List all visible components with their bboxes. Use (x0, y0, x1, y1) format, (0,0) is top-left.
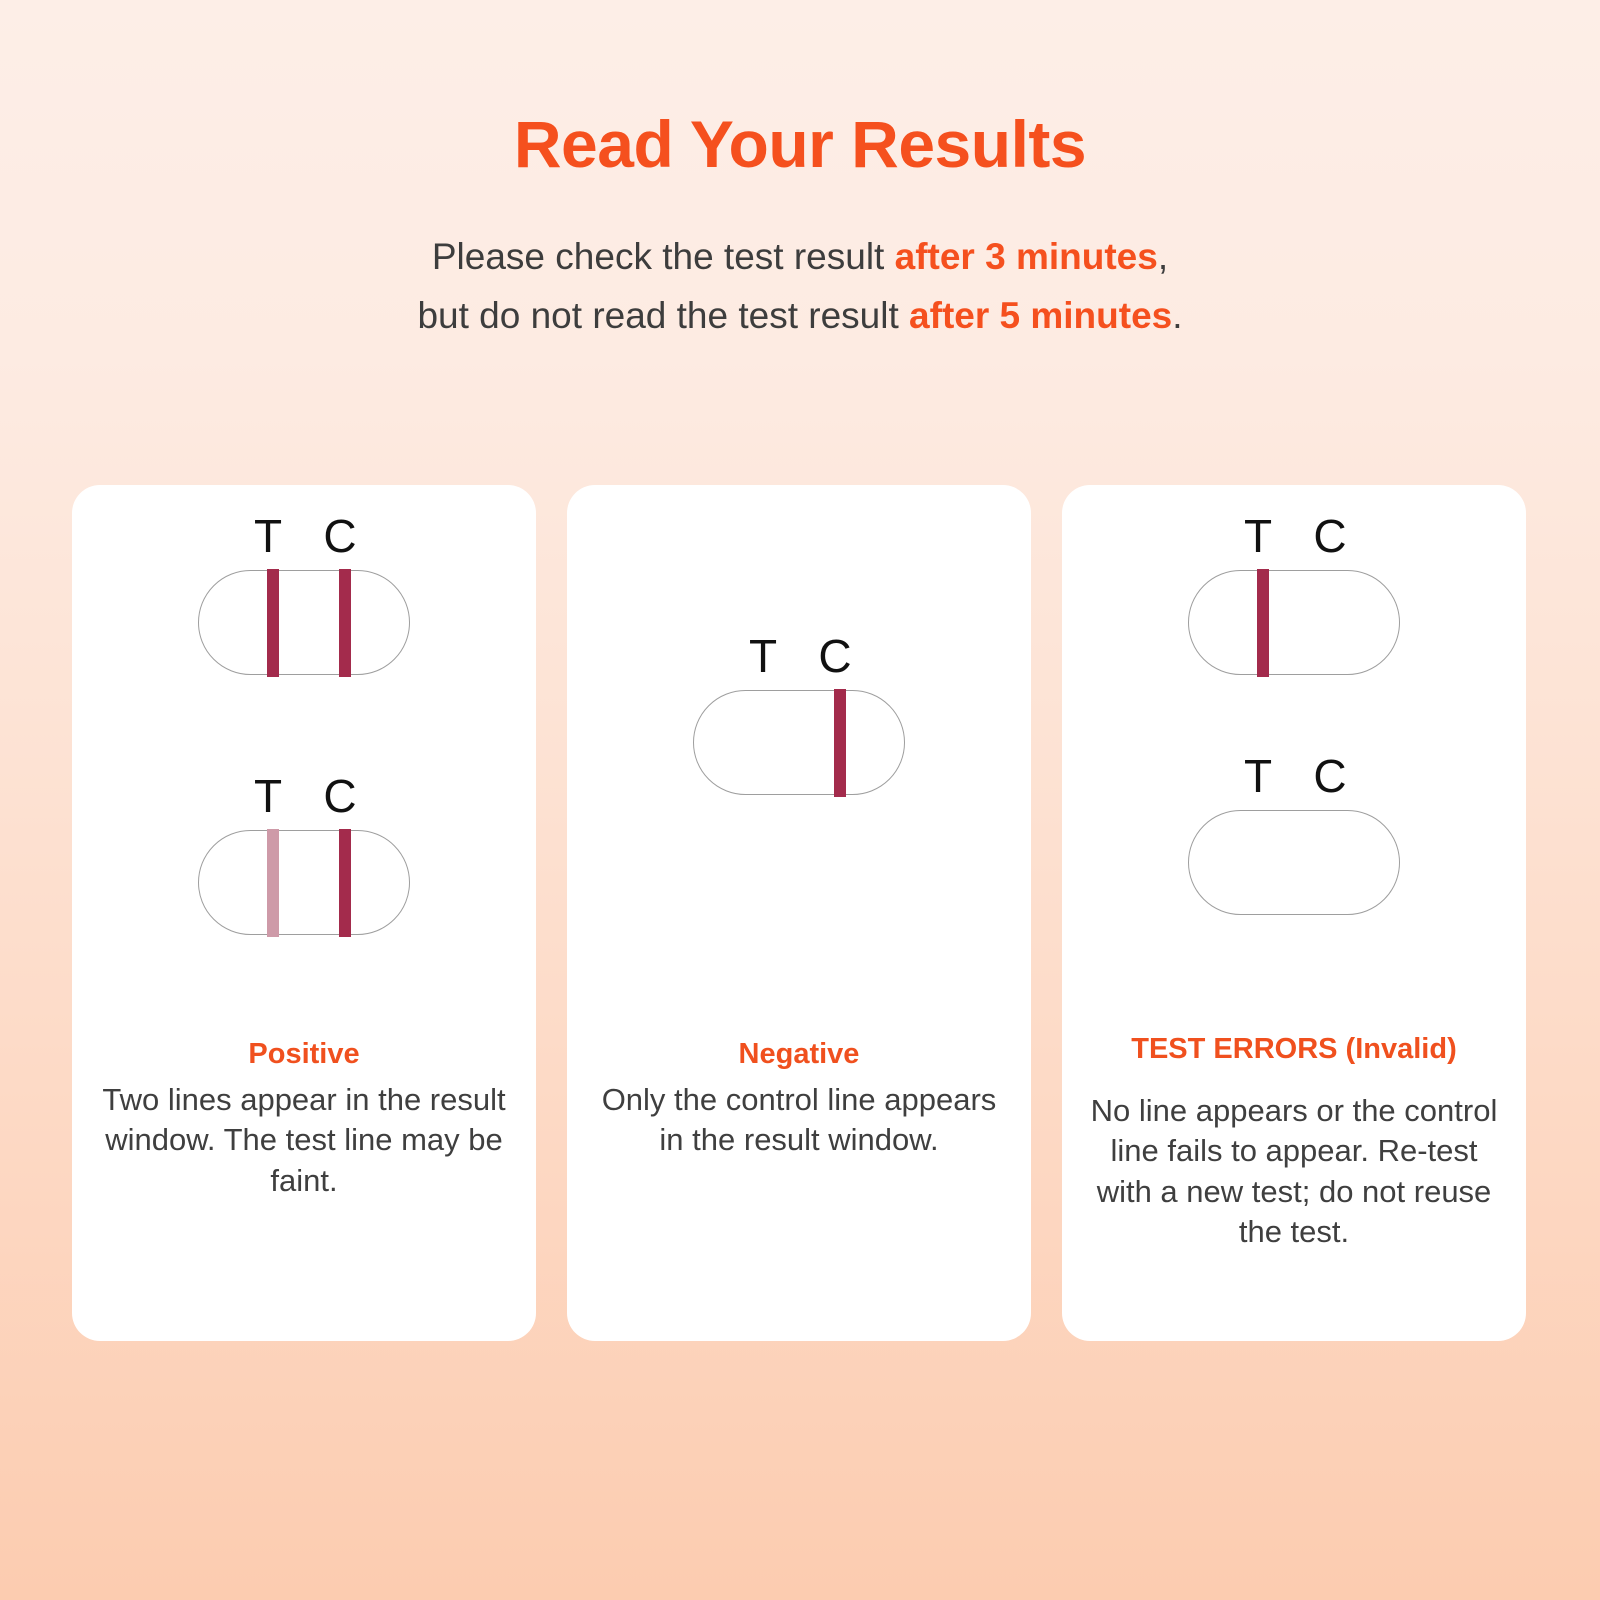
control-line-mark (834, 689, 846, 797)
result-description: No line appears or the control line fail… (1086, 1091, 1502, 1252)
result-status-label: Positive (96, 1035, 512, 1074)
subtitle-line2-suffix: . (1172, 295, 1182, 336)
page-header: Read Your Results Please check the test … (0, 0, 1600, 345)
control-line-mark (339, 829, 351, 937)
strip-labels: TC (198, 510, 410, 566)
subtitle-line1-suffix: , (1158, 236, 1168, 277)
test-strip: TC (198, 510, 410, 675)
test-strip: TC (1188, 510, 1400, 675)
result-status-label: TEST ERRORS (Invalid) (1086, 1030, 1502, 1069)
result-card: TCTCTEST ERRORS (Invalid)No line appears… (1062, 485, 1526, 1341)
test-line-mark (267, 829, 279, 937)
result-window (693, 690, 905, 795)
control-line-mark (339, 569, 351, 677)
control-line-label: C (320, 770, 360, 822)
test-strip: TC (198, 770, 410, 935)
test-line-label: T (248, 770, 288, 822)
card-text-block: PositiveTwo lines appear in the result w… (72, 1035, 536, 1201)
strip-labels: TC (198, 770, 410, 826)
subtitle-line1-prefix: Please check the test result (432, 236, 895, 277)
control-line-label: C (320, 510, 360, 562)
test-line-label: T (248, 510, 288, 562)
subtitle-line-1: Please check the test result after 3 min… (0, 227, 1600, 286)
test-strip: TC (1188, 750, 1400, 915)
page-title: Read Your Results (0, 108, 1600, 181)
card-text-block: TEST ERRORS (Invalid)No line appears or … (1062, 1030, 1526, 1252)
strip-labels: TC (1188, 510, 1400, 566)
card-text-block: NegativeOnly the control line appears in… (567, 1035, 1031, 1161)
result-description: Only the control line appears in the res… (591, 1080, 1007, 1161)
control-line-label: C (1310, 750, 1350, 802)
strip-labels: TC (693, 630, 905, 686)
result-card: TCTCPositiveTwo lines appear in the resu… (72, 485, 536, 1341)
test-line-mark (267, 569, 279, 677)
result-status-label: Negative (591, 1035, 1007, 1074)
subtitle-line-2: but do not read the test result after 5 … (0, 286, 1600, 345)
result-window (1188, 570, 1400, 675)
control-line-label: C (815, 630, 855, 682)
result-description: Two lines appear in the result window. T… (96, 1080, 512, 1201)
test-line-label: T (1238, 510, 1278, 562)
result-window (1188, 810, 1400, 915)
strip-labels: TC (1188, 750, 1400, 806)
result-window (198, 830, 410, 935)
page-subtitle: Please check the test result after 3 min… (0, 227, 1600, 345)
subtitle-line2-prefix: but do not read the test result (417, 295, 909, 336)
results-card-row: TCTCPositiveTwo lines appear in the resu… (72, 485, 1528, 1341)
subtitle-line1-accent: after 3 minutes (895, 236, 1158, 277)
subtitle-line2-accent: after 5 minutes (909, 295, 1172, 336)
test-line-label: T (743, 630, 783, 682)
test-strip: TC (693, 630, 905, 795)
test-line-mark (1257, 569, 1269, 677)
result-window (198, 570, 410, 675)
result-card: TCNegativeOnly the control line appears … (567, 485, 1031, 1341)
control-line-label: C (1310, 510, 1350, 562)
test-line-label: T (1238, 750, 1278, 802)
